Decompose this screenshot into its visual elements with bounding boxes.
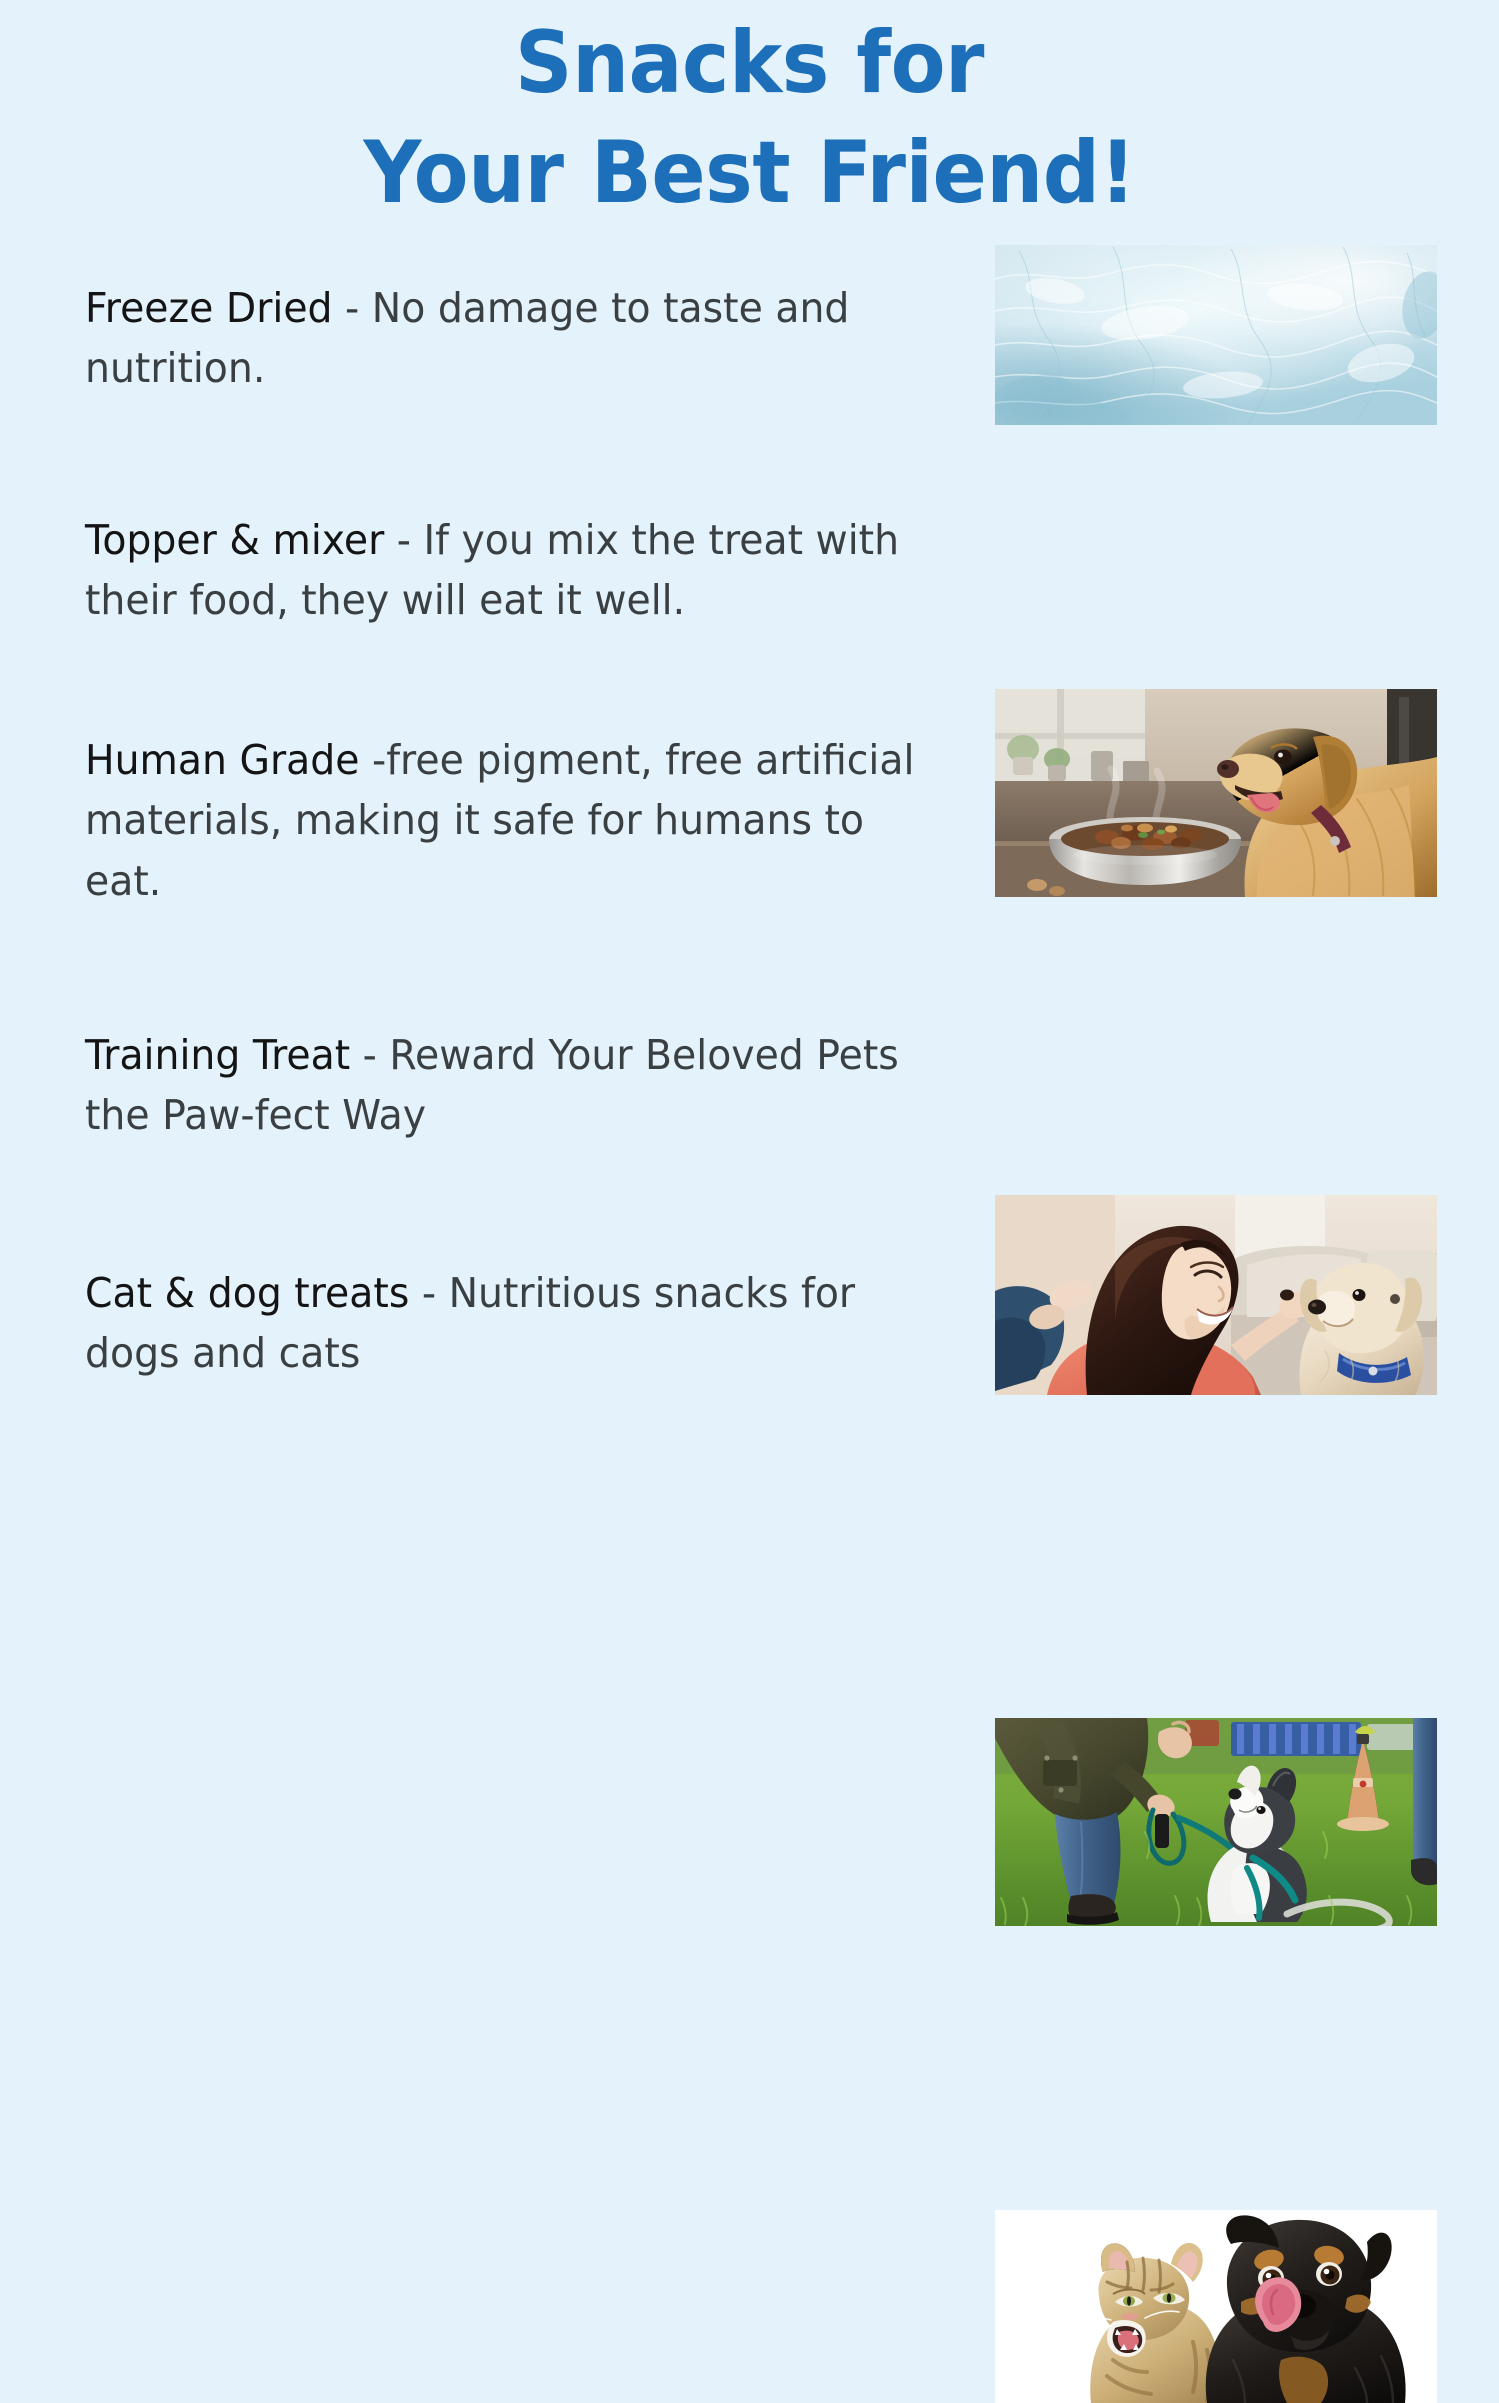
ice-texture-photo (995, 245, 1437, 425)
feature-row: Topper & mixer - If you mix the treat wi… (0, 461, 1499, 679)
feature-separator: - (350, 1031, 389, 1079)
feature-row: Cat & dog treats - Nutritious snacks for… (0, 1223, 1499, 1423)
feature-lead: Freeze Dried (85, 284, 333, 332)
infographic-page: Snacks for Your Best Friend! Freeze Drie… (0, 0, 1499, 1500)
cat-and-dog-photo (995, 2210, 1437, 2403)
feature-separator: - (384, 516, 423, 564)
feature-text: Freeze Dried - No damage to taste and nu… (85, 278, 949, 399)
feature-row: Human Grade -free pigment, free artifici… (0, 713, 1499, 928)
feature-text: Training Treat - Reward Your Beloved Pet… (85, 1025, 949, 1146)
feature-lead: Topper & mixer (85, 516, 384, 564)
feature-text: Human Grade -free pigment, free artifici… (85, 730, 949, 911)
page-title-line-2: Your Best Friend! (52, 118, 1446, 228)
feature-separator: - (333, 284, 372, 332)
page-title-line-1: Snacks for (52, 8, 1446, 118)
feature-row: Freeze Dried - No damage to taste and nu… (0, 243, 1499, 433)
feature-row: Training Treat - Reward Your Beloved Pet… (0, 976, 1499, 1194)
page-title: Snacks for Your Best Friend! (0, 8, 1499, 228)
feature-text: Topper & mixer - If you mix the treat wi… (85, 510, 949, 631)
feature-lead: Human Grade (85, 736, 359, 784)
husky-puppy-training-photo (995, 1718, 1437, 1926)
feature-separator: - (409, 1269, 448, 1317)
feature-separator (359, 736, 372, 784)
feature-lead: Cat & dog treats (85, 1269, 409, 1317)
feature-lead: Training Treat (85, 1031, 350, 1079)
feature-text: Cat & dog treats - Nutritious snacks for… (85, 1263, 949, 1384)
